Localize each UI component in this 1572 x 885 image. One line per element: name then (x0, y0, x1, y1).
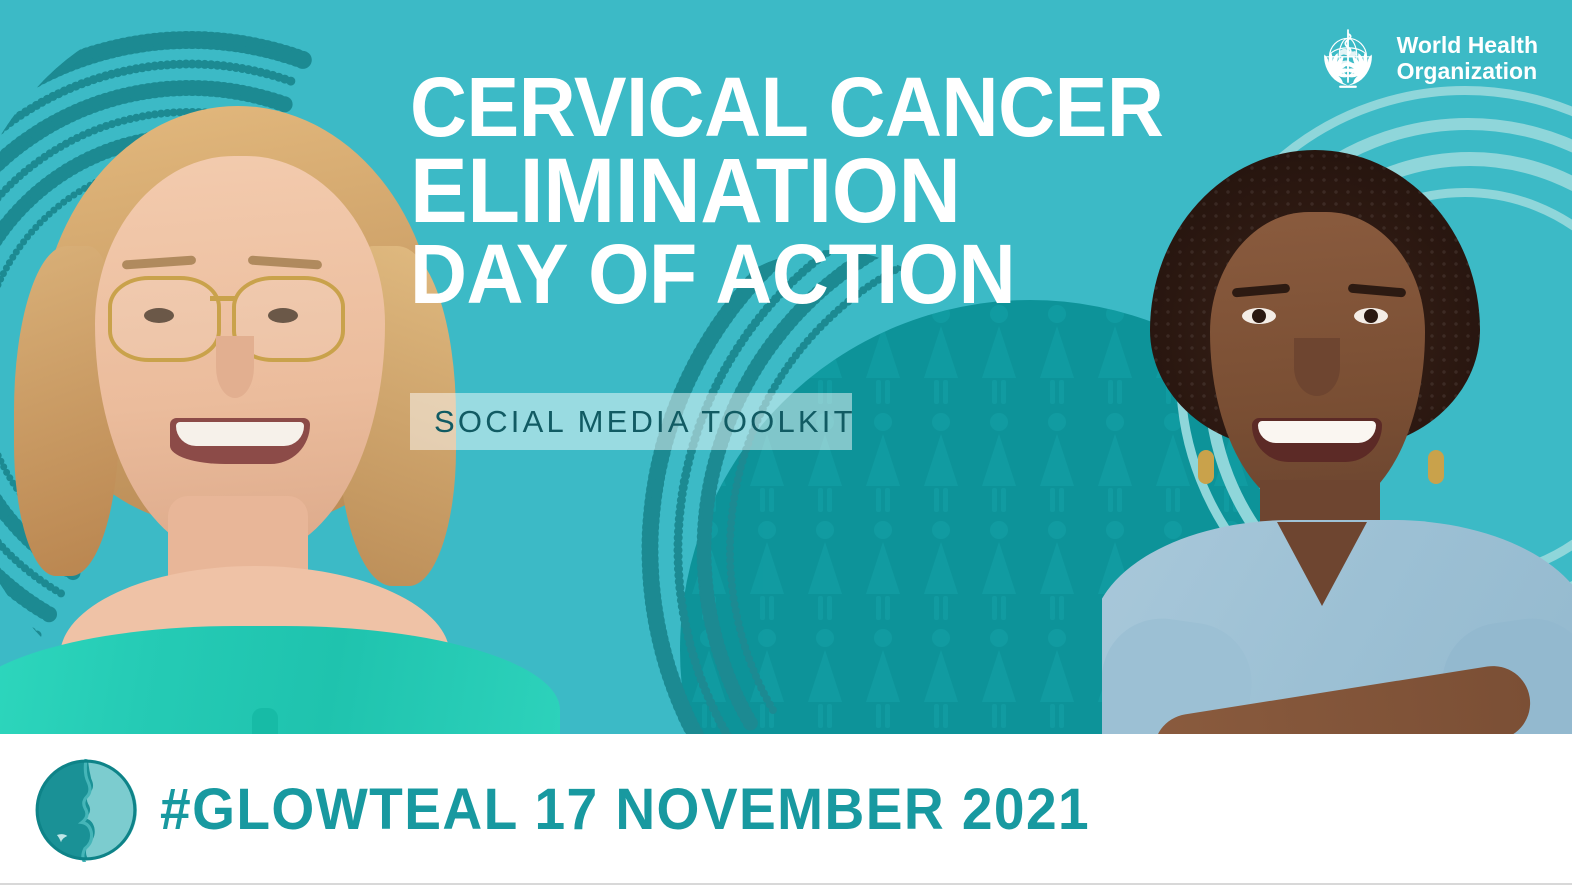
earring-left (1198, 450, 1214, 484)
who-wordmark-line-1: World Health (1397, 33, 1538, 59)
who-wordmark: World Health Organization (1397, 33, 1538, 85)
earring-right (1428, 450, 1444, 484)
pupil (1252, 309, 1266, 323)
who-emblem-icon (1311, 22, 1385, 96)
poster-canvas: CERVICAL CANCER ELIMINATION DAY OF ACTIO… (0, 0, 1572, 885)
headline-line-1: CERVICAL CANCER (410, 68, 1181, 148)
social-media-toolkit-band: SOCIAL MEDIA TOOLKIT (410, 393, 852, 450)
blouse-knot (252, 708, 278, 734)
who-logo: World Health Organization (1311, 22, 1538, 96)
who-wordmark-line-2: Organization (1397, 59, 1538, 85)
decorative-dot-arcs-center (620, 250, 1040, 810)
turquoise-blouse (0, 626, 560, 734)
campaign-hashtag-date: #GLOWTEAL 17 NOVEMBER 2021 (160, 776, 1090, 843)
headline-line-3: DAY OF ACTION (410, 235, 1181, 315)
nose (216, 336, 254, 398)
mouth (1252, 418, 1382, 462)
eye-left (1242, 308, 1276, 324)
nose (1294, 338, 1340, 396)
mouth (170, 418, 310, 464)
teeth (1258, 421, 1376, 443)
pupil (1364, 309, 1378, 323)
bottom-bar: #GLOWTEAL 17 NOVEMBER 2021 (0, 734, 1572, 885)
eyeglasses-lens-left (108, 276, 221, 362)
toolkit-label: SOCIAL MEDIA TOOLKIT (410, 404, 856, 440)
glowteal-woman-globe-icon (34, 758, 138, 862)
teeth (176, 422, 304, 446)
headline-line-2: ELIMINATION (410, 148, 1181, 235)
page-title: CERVICAL CANCER ELIMINATION DAY OF ACTIO… (410, 68, 1181, 315)
eyeglasses-bridge (210, 296, 236, 301)
eye-right (1354, 308, 1388, 324)
